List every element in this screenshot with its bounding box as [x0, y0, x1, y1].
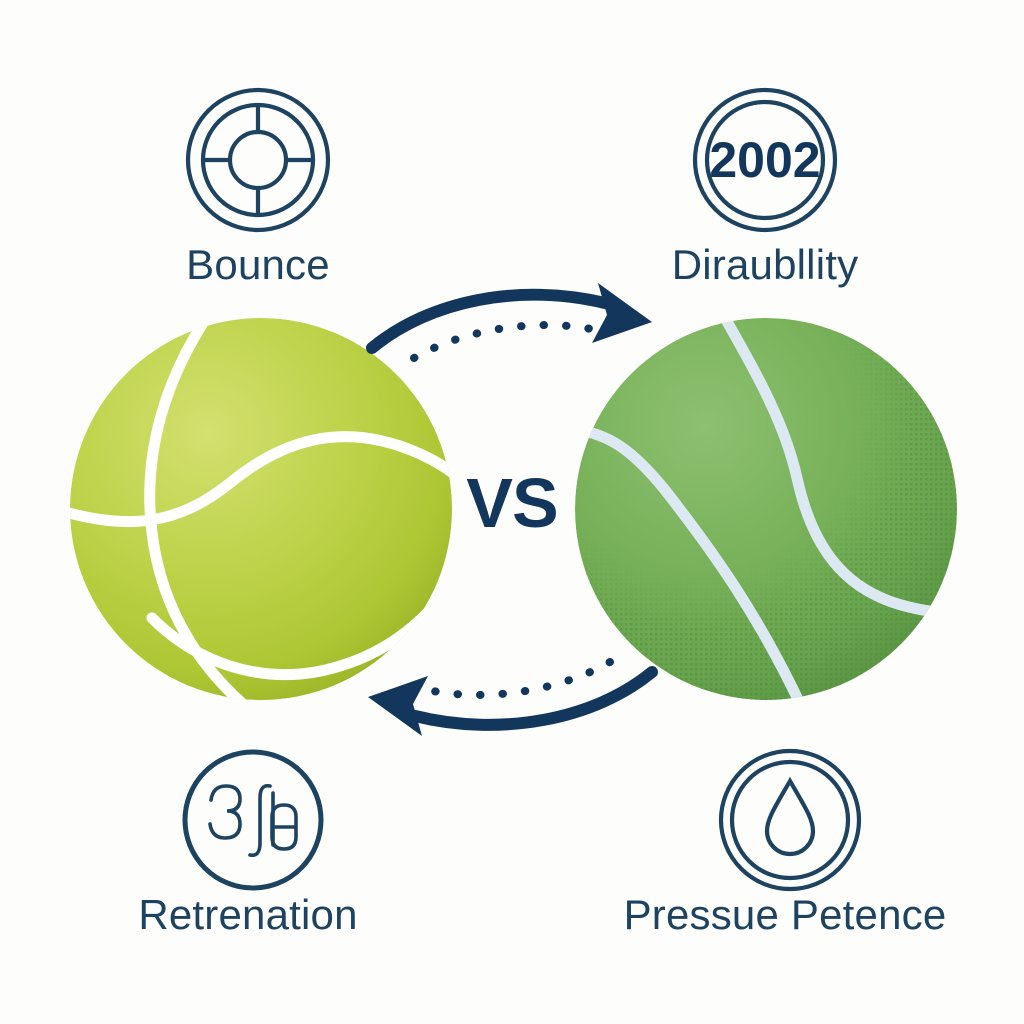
numeric-glyph-badge-icon [178, 745, 318, 885]
arrow-left-to-right-icon [372, 283, 652, 358]
comparison-infographic: Bounce 2002 Diraubllity [0, 0, 1024, 1024]
feature-bounce[interactable]: Bounce [88, 85, 428, 287]
feature-retention[interactable]: Retrenation [78, 745, 418, 937]
feature-pressure[interactable]: Pressue Petence [615, 745, 955, 937]
feature-pressure-label: Pressue Petence [624, 893, 947, 937]
water-droplet-icon [715, 745, 855, 885]
year-badge-icon: 2002 [690, 85, 840, 235]
feature-durability-label: Diraubllity [672, 243, 859, 287]
feature-durability[interactable]: 2002 Diraubllity [595, 85, 935, 287]
feature-retention-label: Retrenation [138, 893, 357, 937]
vs-label: VS [0, 468, 1024, 538]
target-lifebuoy-icon [183, 85, 333, 235]
arrow-right-to-left-icon [368, 662, 652, 736]
year-badge-text: 2002 [709, 132, 820, 188]
feature-bounce-label: Bounce [186, 243, 330, 287]
